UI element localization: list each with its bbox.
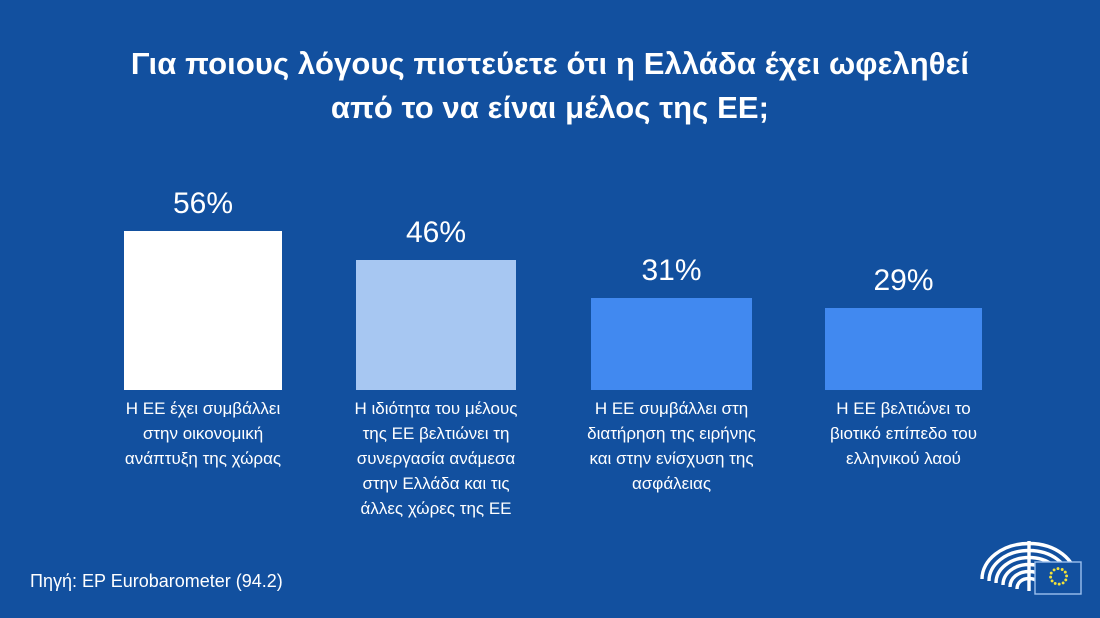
- bar-group-0: 56%: [124, 231, 282, 390]
- european-parliament-logo-icon: [975, 538, 1083, 602]
- european-parliament-logo: [975, 538, 1083, 602]
- bar-rect-2: [591, 298, 752, 390]
- bar-value-label-3: 29%: [873, 264, 933, 298]
- bar-value-label-1: 46%: [406, 216, 466, 250]
- category-label-0: Η ΕΕ έχει συμβάλλει στην οικονομική ανάπ…: [103, 396, 303, 471]
- bar-value-label-2: 31%: [641, 254, 701, 288]
- bar-value-label-0: 56%: [173, 187, 233, 221]
- bar-rect-1: [356, 260, 516, 390]
- chart-slide: Για ποιους λόγους πιστεύετε ότι η Ελλάδα…: [0, 0, 1100, 618]
- page-title: Για ποιους λόγους πιστεύετε ότι η Ελλάδα…: [120, 42, 980, 130]
- category-label-2: Η ΕΕ συμβάλλει στη διατήρηση της ειρήνης…: [566, 396, 777, 496]
- category-label-1: Η ιδιότητα του μέλους της ΕΕ βελτιώνει τ…: [331, 396, 541, 521]
- bar-group-1: 46%: [356, 260, 516, 390]
- bar-group-3: 29%: [825, 308, 982, 390]
- category-label-3: Η ΕΕ βελτιώνει το βιοτικό επίπεδο του ελ…: [800, 396, 1007, 471]
- bar-rect-0: [124, 231, 282, 390]
- bar-rect-3: [825, 308, 982, 390]
- source-note: Πηγή: EP Eurobarometer (94.2): [30, 570, 283, 592]
- bar-group-2: 31%: [591, 298, 752, 390]
- plot-area: 56% 46% 31% 29%: [0, 140, 1100, 390]
